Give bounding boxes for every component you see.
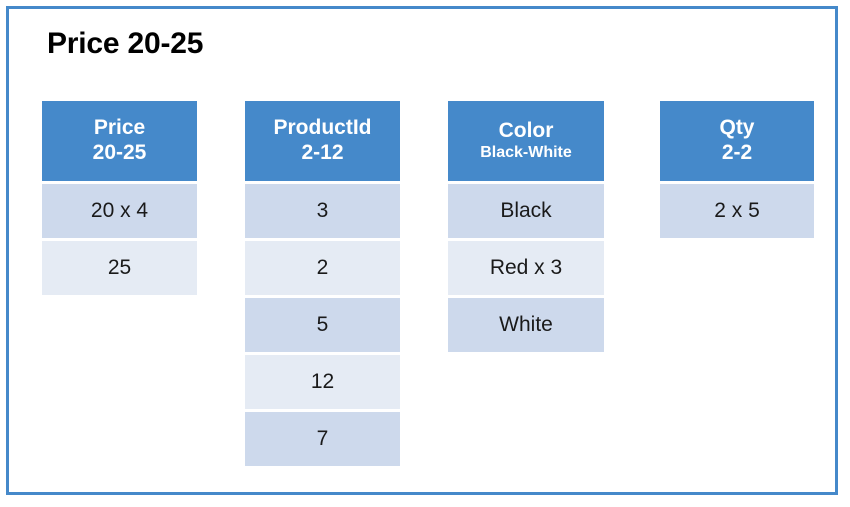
table-cell[interactable]: 3: [245, 184, 400, 238]
table-cell[interactable]: 12: [245, 355, 400, 409]
column-color: ColorBlack-WhiteBlackRed x 3White: [448, 101, 604, 355]
page-title: Price 20-25: [47, 27, 203, 61]
slide-canvas: Price 20-25 Price20-2520 x 425ProductId2…: [6, 6, 838, 495]
column-header-title: ProductId: [274, 116, 372, 141]
table-cell[interactable]: Black: [448, 184, 604, 238]
column-header[interactable]: Qty2-2: [660, 101, 814, 181]
column-header[interactable]: Price20-25: [42, 101, 197, 181]
table-cell[interactable]: 25: [42, 241, 197, 295]
column-header-range: Black-White: [480, 144, 572, 163]
table-cell[interactable]: 2 x 5: [660, 184, 814, 238]
column-header[interactable]: ColorBlack-White: [448, 101, 604, 181]
table-cell[interactable]: 2: [245, 241, 400, 295]
column-header-title: Color: [499, 119, 554, 144]
table-cell[interactable]: 5: [245, 298, 400, 352]
column-header-title: Qty: [719, 116, 754, 141]
column-qty: Qty2-22 x 5: [660, 101, 814, 241]
column-header-range: 2-2: [722, 141, 752, 166]
table-cell[interactable]: 7: [245, 412, 400, 466]
table-cell[interactable]: Red x 3: [448, 241, 604, 295]
column-header-range: 2-12: [301, 141, 343, 166]
column-price: Price20-2520 x 425: [42, 101, 197, 298]
column-header-title: Price: [94, 116, 145, 141]
column-header[interactable]: ProductId2-12: [245, 101, 400, 181]
column-header-range: 20-25: [93, 141, 147, 166]
column-productid: ProductId2-12325127: [245, 101, 400, 469]
table-cell[interactable]: 20 x 4: [42, 184, 197, 238]
table-cell[interactable]: White: [448, 298, 604, 352]
